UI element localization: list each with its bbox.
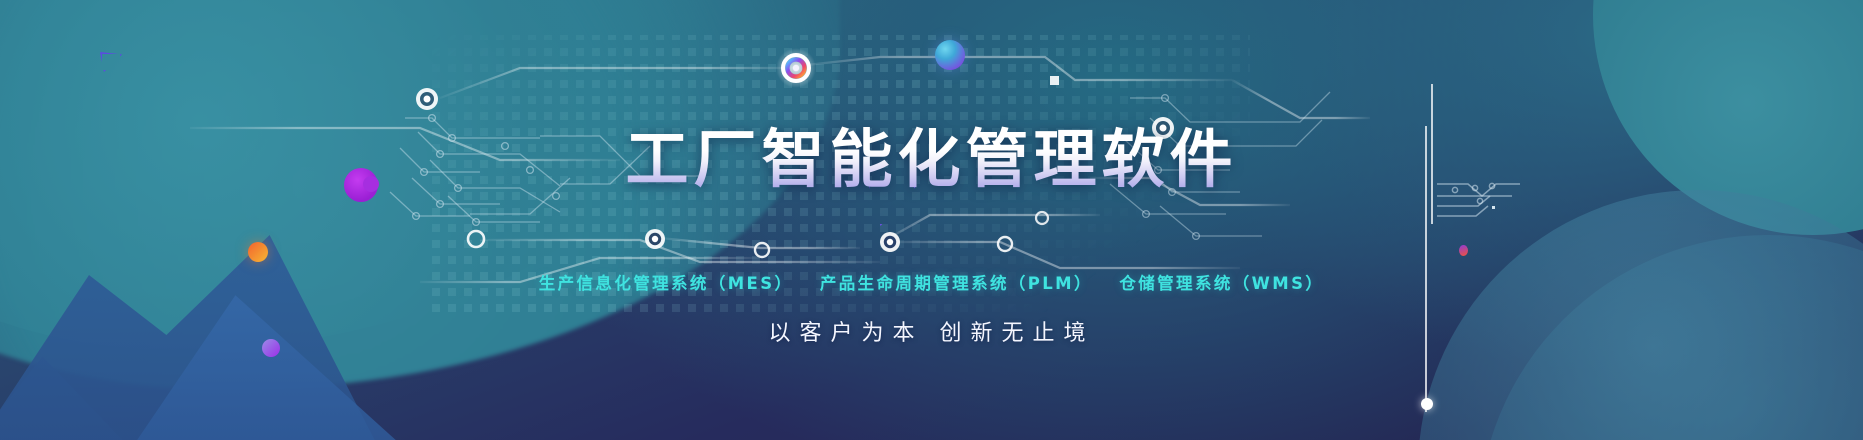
white-dot	[1421, 398, 1433, 410]
subtitle-item-mes: 生产信息化管理系统（MES）	[539, 270, 794, 294]
subtitle-item-wms: 仓储管理系统（WMS）	[1119, 270, 1324, 294]
glowing-ring-node	[776, 48, 816, 88]
tagline-container: 以客户为本 创新无止境	[0, 315, 1863, 347]
title-container: 工厂智能化管理软件	[0, 124, 1863, 201]
blue-mountain-front	[110, 270, 440, 440]
tagline: 以客户为本 创新无止境	[769, 315, 1095, 347]
circuit-board-traces	[0, 0, 1863, 440]
purple-triangle-small	[100, 52, 122, 72]
orange-dot	[248, 242, 268, 262]
pink-dot	[1459, 245, 1468, 256]
subtitle-item-plm: 产品生命周期管理系统（PLM）	[820, 270, 1093, 294]
hero-banner: 工厂智能化管理软件 生产信息化管理系统（MES） 产品生命周期管理系统（PLM）…	[0, 0, 1863, 440]
gradient-sphere	[935, 40, 965, 70]
page-title: 工厂智能化管理软件	[620, 124, 1244, 201]
subtitle-list: 生产信息化管理系统（MES） 产品生命周期管理系统（PLM） 仓储管理系统（WM…	[0, 270, 1863, 294]
